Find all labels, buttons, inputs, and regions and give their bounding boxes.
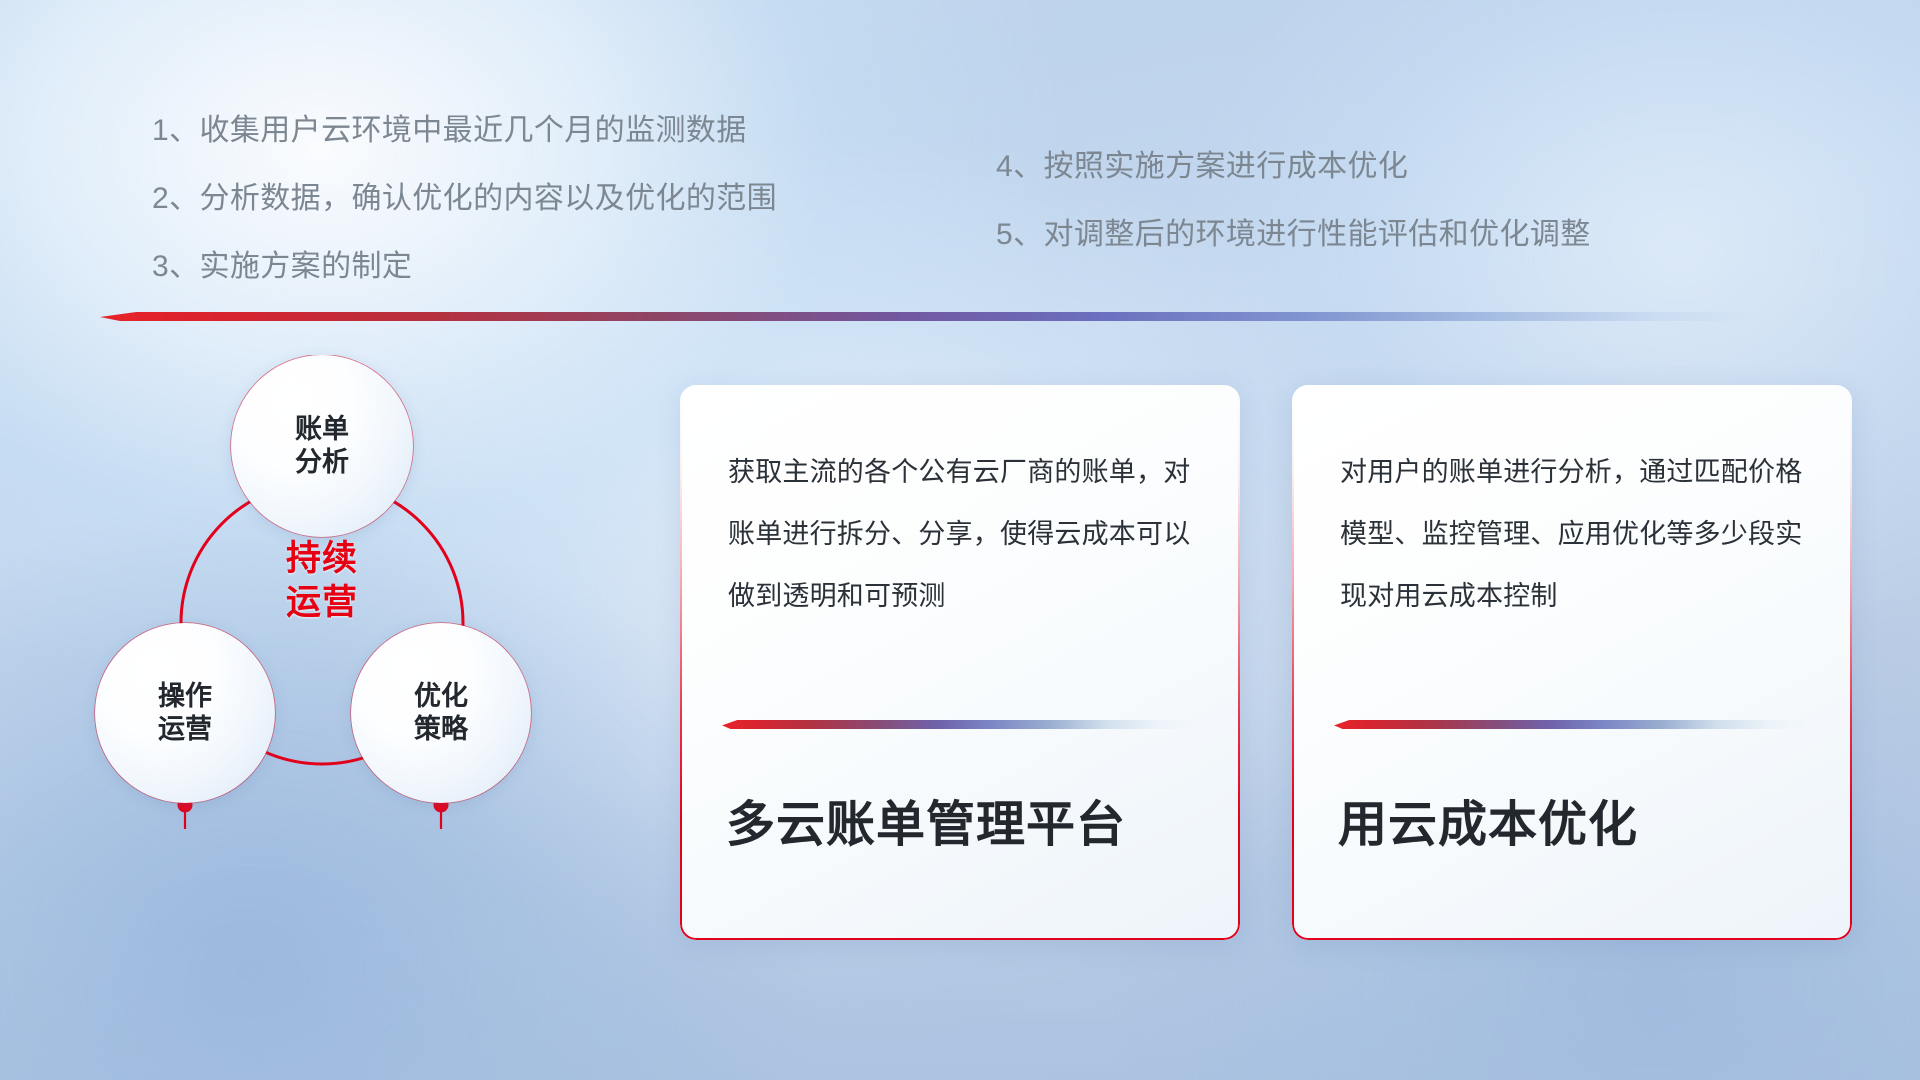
diagram-center-label: 持续 运营 (234, 537, 410, 625)
diagram-node-operation[interactable]: 操作 运营 (95, 623, 275, 803)
step-item-1: 1、收集用户云环境中最近几个月的监测数据 (152, 116, 777, 146)
card-title: 多云账单管理平台 (726, 785, 1126, 856)
step-item-2: 2、分析数据，确认优化的内容以及优化的范围 (152, 184, 777, 214)
card-accent-rule (722, 720, 1200, 729)
steps-column-right: 4、按照实施方案进行成本优化 5、对调整后的环境进行性能评估和优化调整 (996, 152, 1591, 250)
step-item-5: 5、对调整后的环境进行性能评估和优化调整 (996, 220, 1591, 250)
continuous-operation-diagram: 账单 分析 操作 运营 优化 策略 持续 运营 (90, 355, 650, 955)
node-label-line1: 优化 (414, 680, 468, 713)
step-item-4: 4、按照实施方案进行成本优化 (996, 152, 1591, 182)
node-label-line1: 账单 (295, 413, 349, 446)
slide-canvas: 1、收集用户云环境中最近几个月的监测数据 2、分析数据，确认优化的内容以及优化的… (0, 0, 1920, 1080)
step-item-3: 3、实施方案的制定 (152, 252, 777, 282)
diagram-node-billing-analysis[interactable]: 账单 分析 (231, 355, 413, 537)
steps-column-left: 1、收集用户云环境中最近几个月的监测数据 2、分析数据，确认优化的内容以及优化的… (152, 116, 777, 282)
card-body-text: 获取主流的各个公有云厂商的账单，对账单进行拆分、分享，使得云成本可以做到透明和可… (728, 441, 1204, 627)
card-title: 用云成本优化 (1338, 785, 1638, 856)
section-divider-line (100, 312, 1760, 321)
node-label-line1: 操作 (158, 680, 212, 713)
steps-list: 1、收集用户云环境中最近几个月的监测数据 2、分析数据，确认优化的内容以及优化的… (0, 0, 1920, 300)
node-label-line2: 运营 (158, 713, 212, 746)
center-label-line2: 运营 (234, 581, 410, 625)
node-label-line2: 策略 (414, 713, 468, 746)
card-cloud-cost-optimization[interactable]: 对用户的账单进行分析，通过匹配价格模型、监控管理、应用优化等多少段实现对用云成本… (1292, 385, 1852, 940)
node-label-line2: 分析 (295, 446, 349, 479)
diagram-node-optimization[interactable]: 优化 策略 (351, 623, 531, 803)
center-label-line1: 持续 (234, 537, 410, 581)
card-multi-cloud-billing-platform[interactable]: 获取主流的各个公有云厂商的账单，对账单进行拆分、分享，使得云成本可以做到透明和可… (680, 385, 1240, 940)
card-body-text: 对用户的账单进行分析，通过匹配价格模型、监控管理、应用优化等多少段实现对用云成本… (1340, 441, 1816, 627)
card-accent-rule (1334, 720, 1812, 729)
